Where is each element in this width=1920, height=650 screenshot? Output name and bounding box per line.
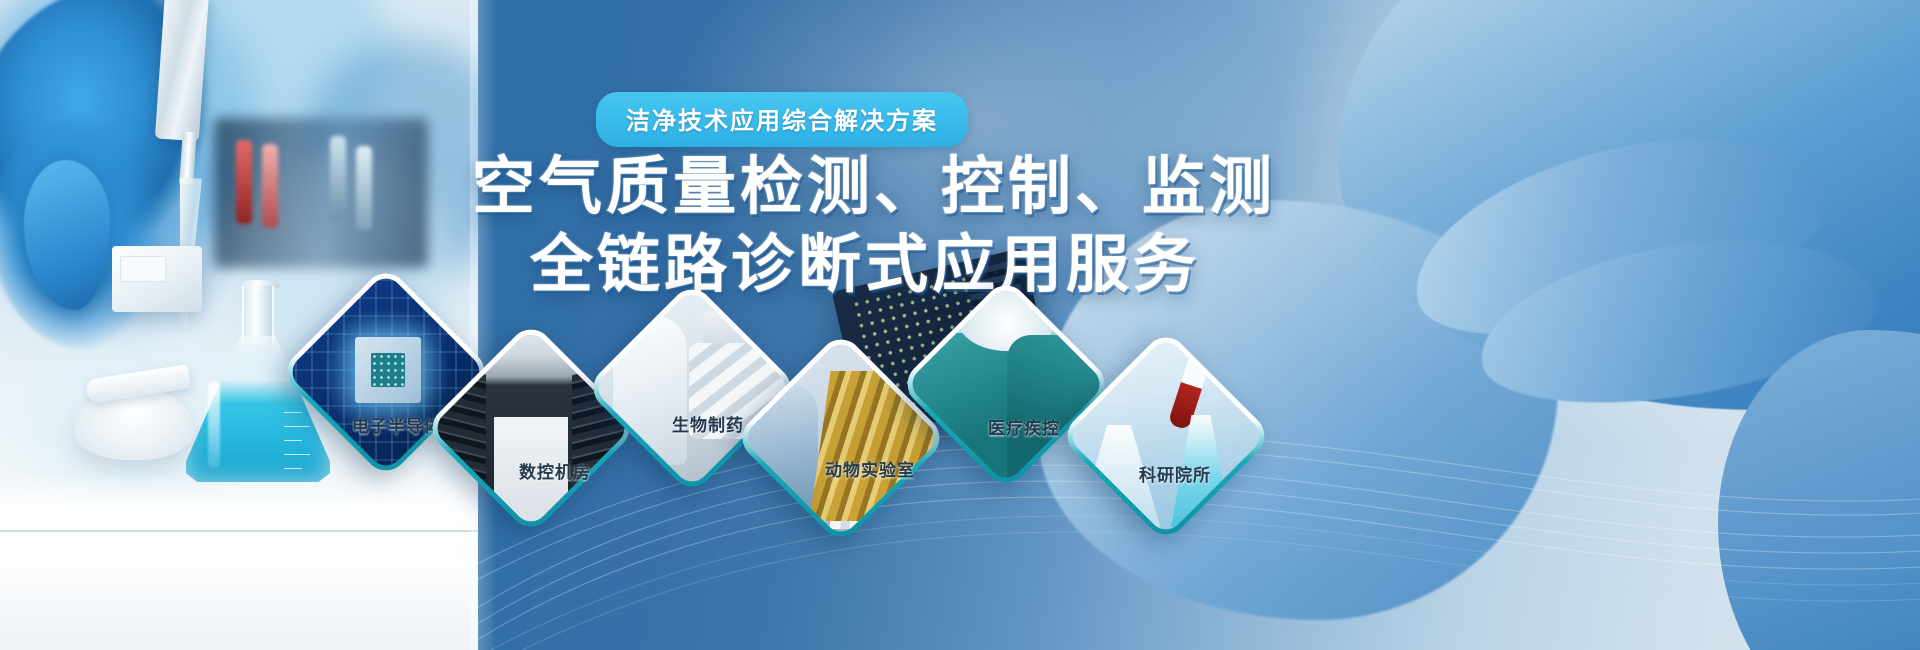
industry-card-label-animal-laboratory: 动物实验室 — [825, 456, 915, 481]
industry-card-label-medical-disease-control: 医疗疾控 — [988, 414, 1060, 439]
industry-card-strip: 电子半导体数控机房生物制药动物实验室医疗疾控科研院所 — [0, 0, 1920, 650]
hero-banner: 洁净技术应用综合解决方案 空气质量检测、控制、监测 全链路诊断式应用服务 电子半… — [0, 0, 1920, 650]
industry-card-label-electronic-semiconductor: 电子半导体 — [352, 412, 442, 437]
industry-card-label-nc-machine-room: 数控机房 — [519, 458, 591, 483]
industry-card-label-biopharmaceutical: 生物制药 — [672, 411, 744, 436]
industry-card-label-research-institute: 科研院所 — [1139, 461, 1211, 486]
